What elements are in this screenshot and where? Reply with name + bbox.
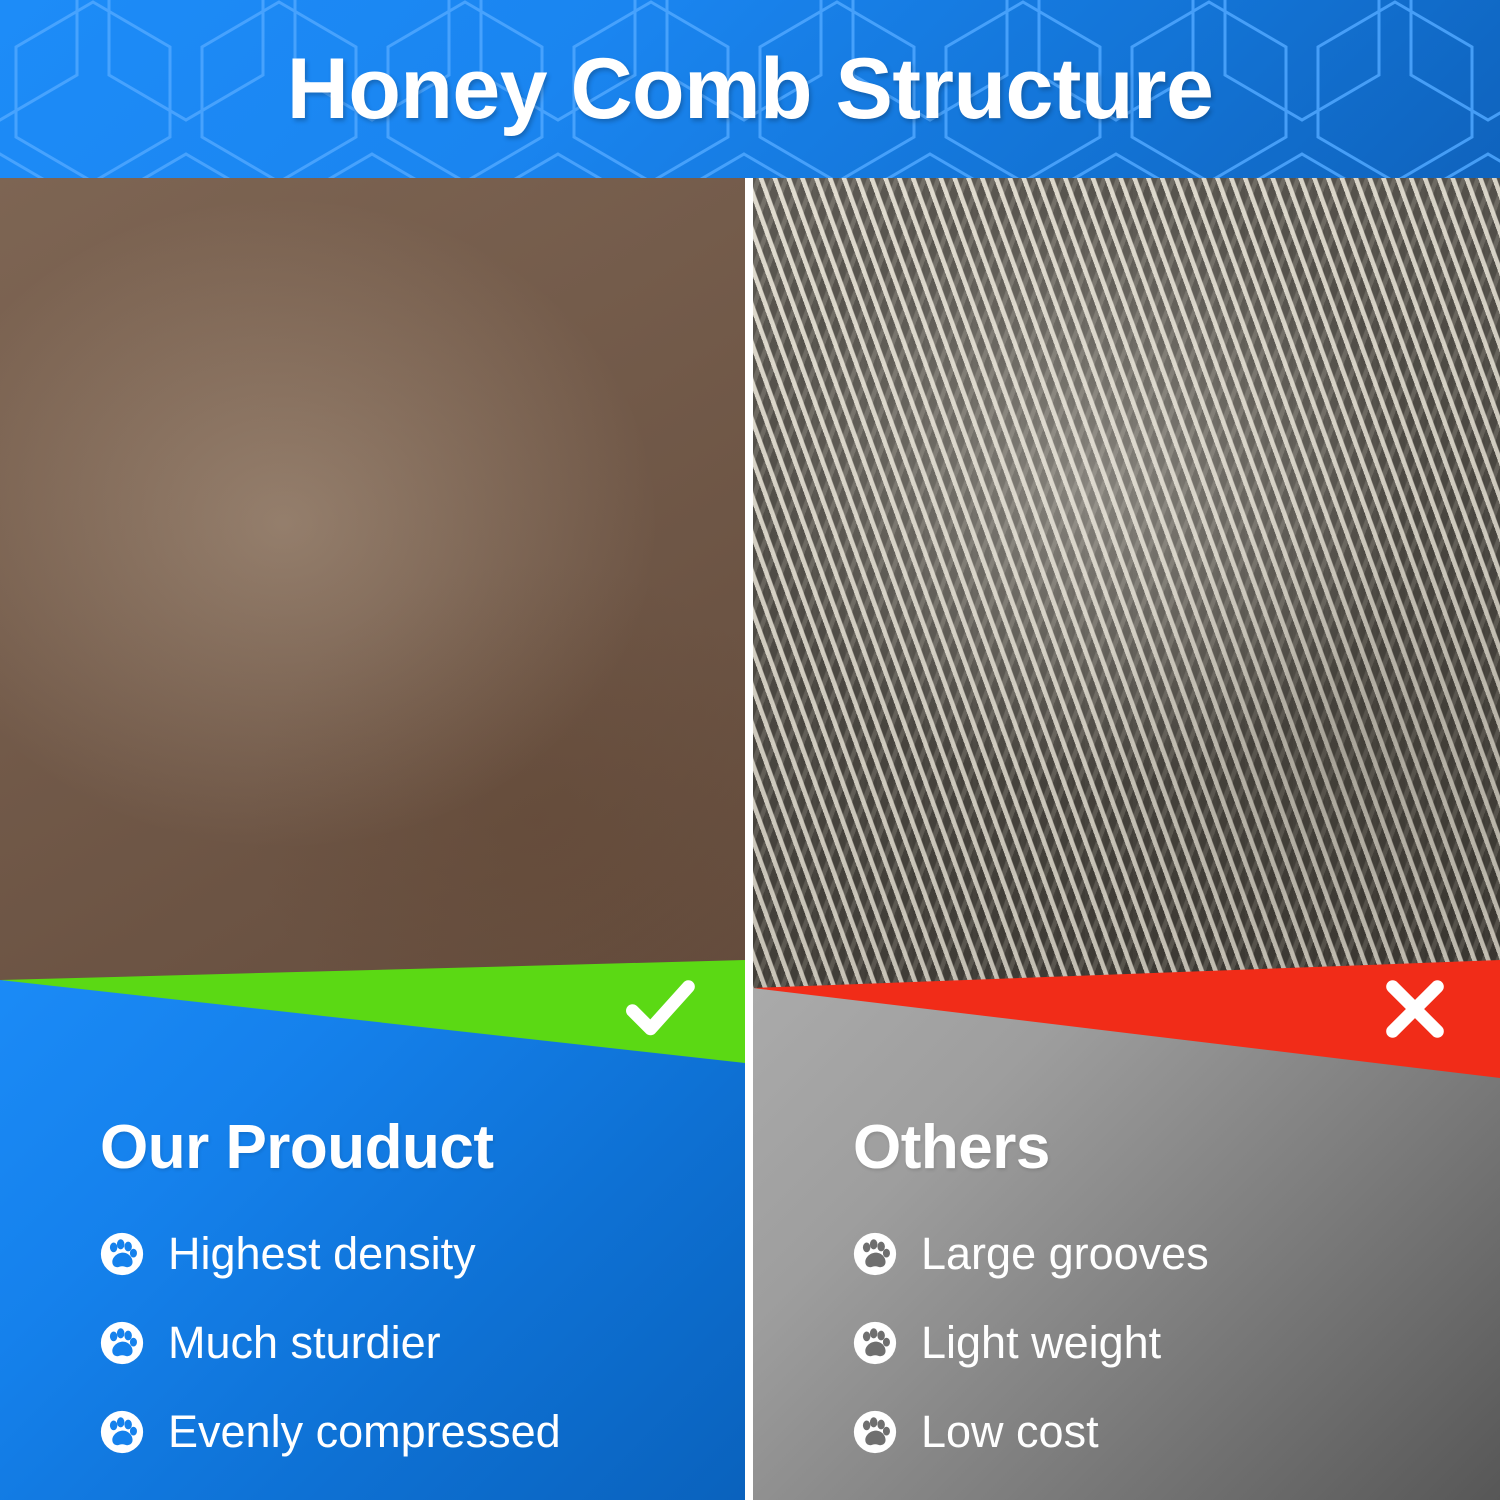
our-product-photo [0, 178, 745, 1000]
infographic-page: Honey Comb Structure Our Prouduct [0, 0, 1500, 1500]
paw-icon [100, 1410, 144, 1454]
others-heading: Others [853, 1112, 1500, 1183]
our-product-content: Our Prouduct Highest density [0, 1090, 745, 1500]
paw-icon [853, 1410, 897, 1454]
page-title: Honey Comb Structure [0, 0, 1500, 178]
our-product-feature-list: Highest density Much sturdier [100, 1231, 745, 1454]
our-product-panel: Our Prouduct Highest density [0, 960, 745, 1500]
others-photo [753, 178, 1500, 1000]
others-content: Others Large grooves [753, 1090, 1500, 1500]
list-item: Highest density [100, 1231, 745, 1276]
feature-label: Much sturdier [168, 1320, 441, 1365]
feature-label: Large grooves [921, 1231, 1209, 1276]
our-product-heading: Our Prouduct [100, 1112, 745, 1183]
paw-icon [100, 1232, 144, 1276]
list-item: Light weight [853, 1320, 1500, 1365]
others-feature-list: Large grooves Light weight [853, 1231, 1500, 1454]
others-panel: Others Large grooves [753, 960, 1500, 1500]
paw-icon [100, 1321, 144, 1365]
feature-label: Low cost [921, 1409, 1099, 1454]
list-item: Low cost [853, 1409, 1500, 1454]
list-item: Large grooves [853, 1231, 1500, 1276]
feature-label: Highest density [168, 1231, 476, 1276]
check-icon [617, 966, 703, 1052]
paw-icon [853, 1232, 897, 1276]
cross-icon [1372, 966, 1458, 1052]
feature-label: Evenly compressed [168, 1409, 561, 1454]
list-item: Evenly compressed [100, 1409, 745, 1454]
feature-label: Light weight [921, 1320, 1161, 1365]
list-item: Much sturdier [100, 1320, 745, 1365]
paw-icon [853, 1321, 897, 1365]
header-banner: Honey Comb Structure [0, 0, 1500, 178]
panel-divider [745, 178, 753, 1500]
